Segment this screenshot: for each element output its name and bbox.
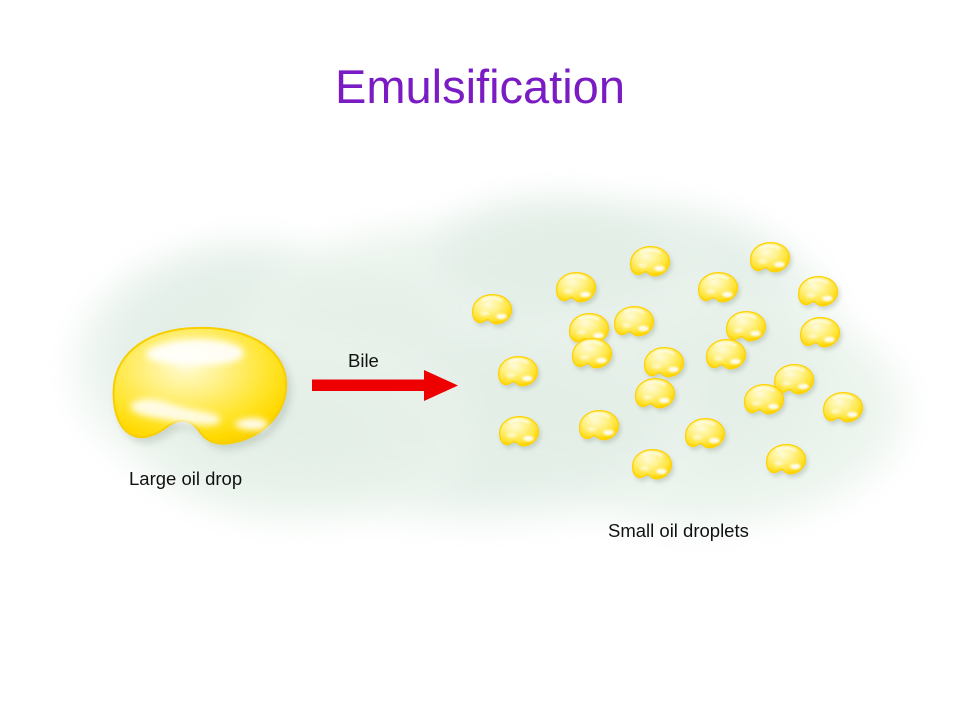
oil-droplet (686, 419, 725, 448)
oil-droplet (727, 312, 766, 341)
oil-droplet (580, 411, 619, 440)
figure-graphics (0, 0, 960, 720)
emulsification-figure: Bile Large oil drop Small oil droplets (0, 0, 960, 720)
oil-droplet (824, 393, 863, 422)
oil-droplet (699, 273, 738, 302)
slide-canvas: Emulsification (0, 0, 960, 720)
oil-droplet (636, 379, 675, 408)
oil-droplet (500, 417, 539, 446)
oil-droplet (745, 385, 784, 414)
oil-droplet (799, 277, 838, 306)
oil-droplet (633, 450, 672, 479)
oil-droplet (573, 339, 612, 368)
large-oil-drop (114, 328, 287, 444)
label-large-oil-drop: Large oil drop (129, 470, 242, 489)
label-small-oil-droplets: Small oil droplets (608, 522, 749, 541)
oil-droplet (557, 273, 596, 302)
oil-droplet (631, 247, 670, 276)
oil-droplet (615, 307, 654, 336)
oil-droplet (499, 357, 538, 386)
oil-droplet (645, 348, 684, 377)
oil-droplet (801, 318, 840, 347)
oil-droplet (775, 365, 814, 394)
oil-droplet (473, 295, 512, 324)
label-bile: Bile (348, 352, 379, 371)
oil-droplet (767, 445, 806, 474)
oil-droplet (751, 243, 790, 272)
oil-droplet (707, 340, 746, 369)
